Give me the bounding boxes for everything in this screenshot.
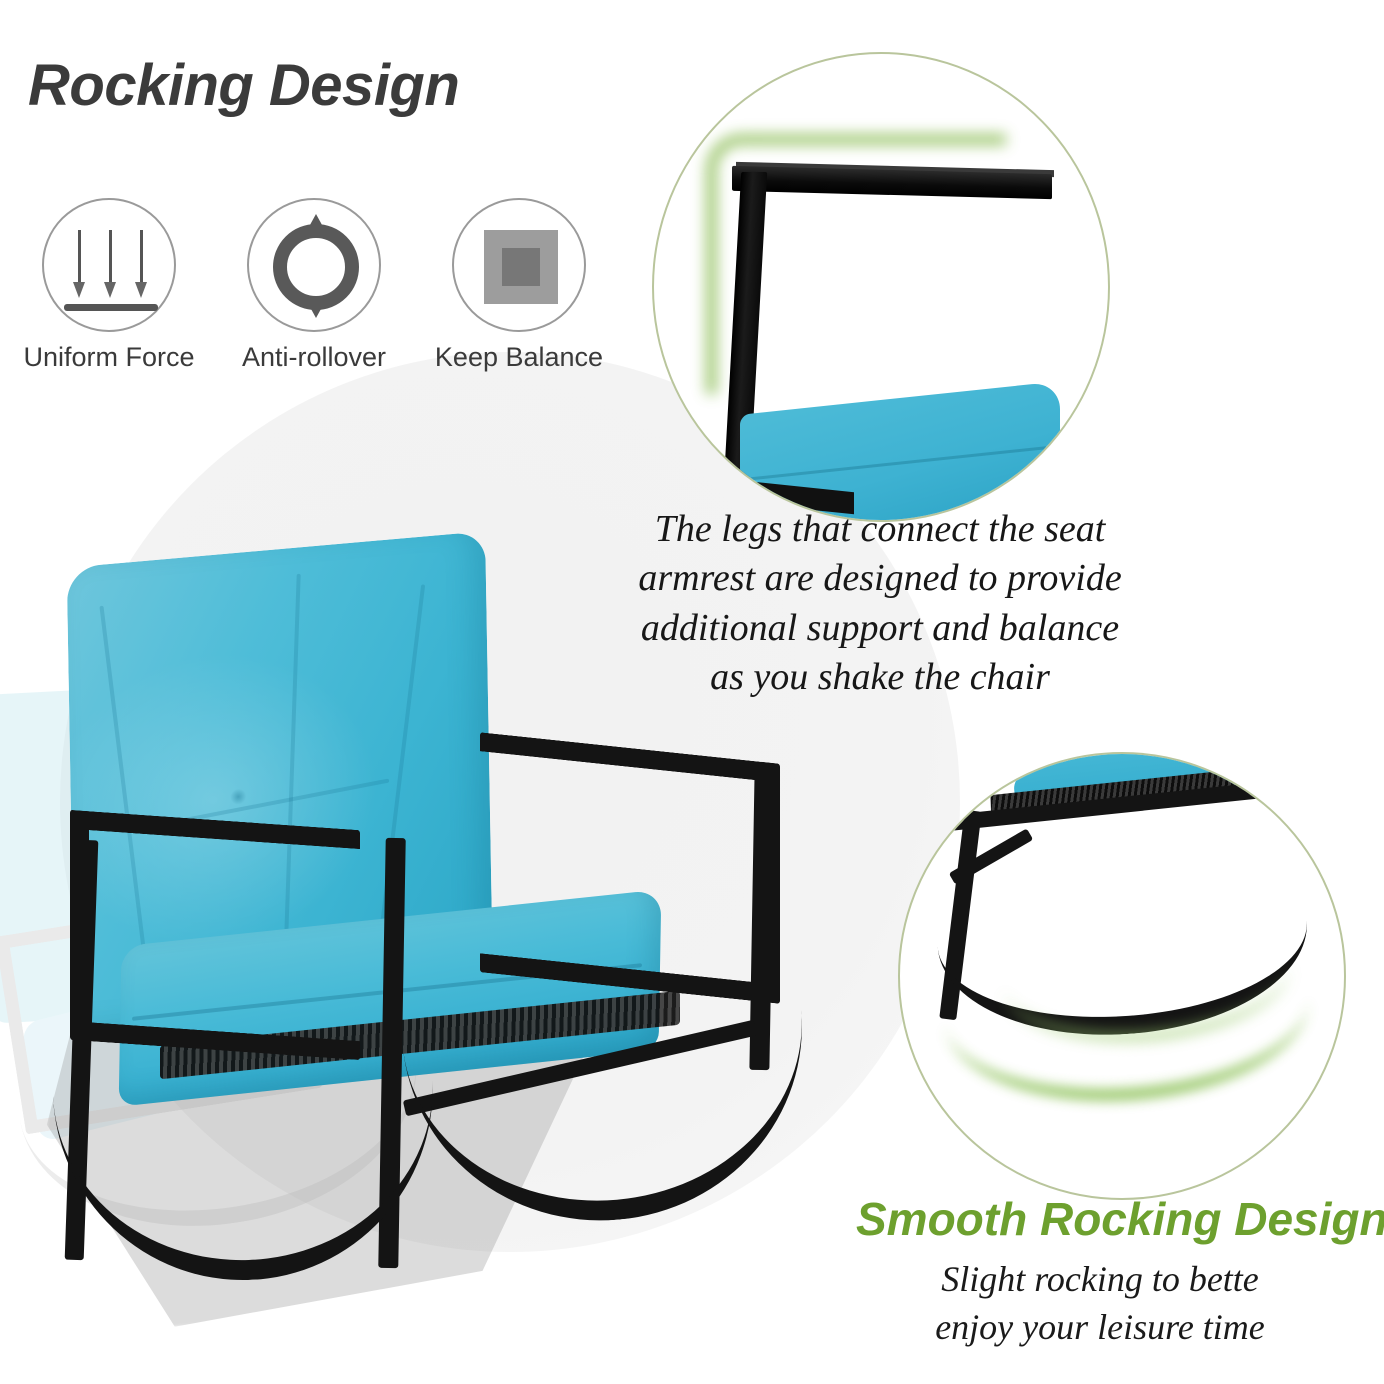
rotation-arrows-icon [247,198,381,332]
nested-squares-icon [452,198,586,332]
arrow-down-2 [109,230,112,284]
left-armrest-frame [70,810,360,1060]
smooth-rocking-heading: Smooth Rocking Design [856,1192,1384,1246]
support-bar-shape [64,304,158,311]
armrest-leg-joint-closeup [652,52,1110,522]
feature-badge-uniform-force: Uniform Force [14,198,204,373]
rotation-arrowhead-top [305,214,327,234]
feature-label-anti-rollover: Anti-rollover [219,342,409,373]
product-chair-illustration [10,520,840,1350]
arrow-down-3 [140,230,143,284]
feature-badge-keep-balance: Keep Balance [424,198,614,373]
rotation-arrowhead-bottom [305,298,327,318]
feature-badges: Uniform Force Anti-rollover Keep Balance [14,198,614,398]
smooth-sub-line-2: enjoy your leisure time [860,1304,1340,1352]
feature-badge-anti-rollover: Anti-rollover [219,198,409,373]
rear-rocker-rail [402,1003,818,1237]
chair-body [10,520,840,1350]
outer-square-shape [484,230,558,304]
inner-square-shape [502,248,540,286]
feature-label-keep-balance: Keep Balance [424,342,614,373]
right-armrest-frame [480,732,780,1004]
page-title: Rocking Design [28,52,459,119]
rocker-rail-closeup [898,752,1346,1200]
infographic-canvas: Rocking Design Uniform Force Anti-rollov… [0,0,1384,1384]
smooth-rocking-subtext: Slight rocking to bette enjoy your leisu… [860,1256,1340,1351]
arrow-down-1 [78,230,81,284]
smooth-sub-line-1: Slight rocking to bette [860,1256,1340,1304]
downward-arrows-icon [42,198,176,332]
feature-label-uniform-force: Uniform Force [14,342,204,373]
